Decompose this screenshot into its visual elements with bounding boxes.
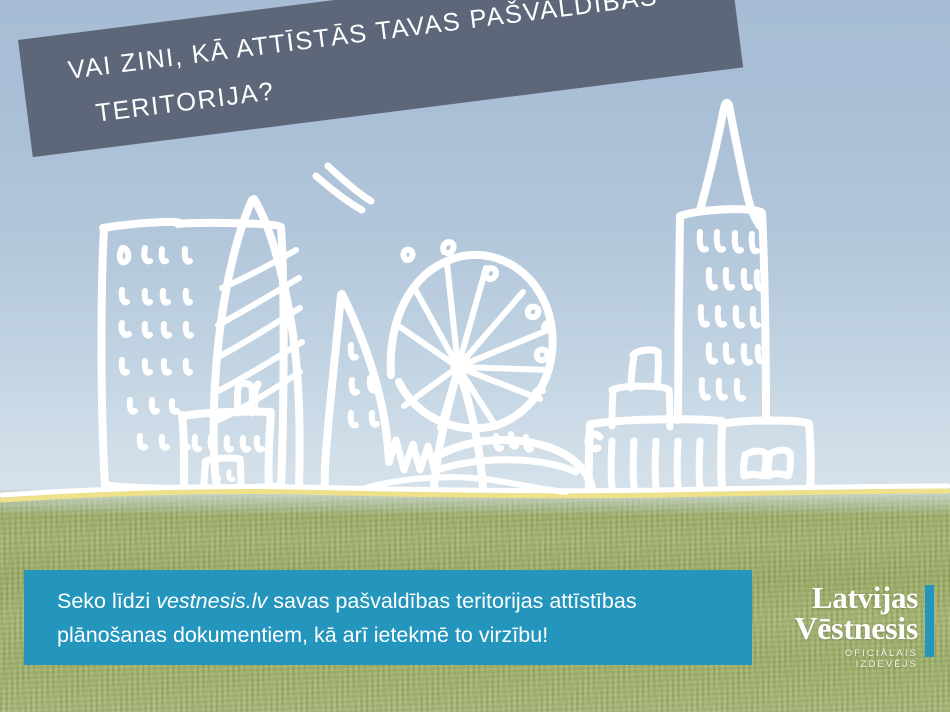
pointed-skyscraper-sketch: [325, 294, 435, 489]
cta-text-before-link: Seko līdzi: [57, 589, 156, 613]
logo-line-1: Latvijas: [788, 583, 918, 613]
logo-accent-bar: [925, 585, 934, 657]
logo-line-2: Vēstnesis: [788, 613, 918, 643]
spire-tower-sketch: [678, 103, 766, 420]
cta-line-2: plānošanas dokumentiem, kā arī ietekmē t…: [57, 618, 752, 652]
cta-text-after-link: savas pašvaldības teritorijas attīstības: [267, 589, 636, 613]
book-building-sketch: [721, 420, 810, 489]
pencil-sketch: [316, 166, 371, 210]
cta-banner: Seko līdzi vestnesis.lv savas pašvaldība…: [24, 570, 752, 665]
logo-text-block: Latvijas Vēstnesis OFICIĀLAIS IZDEVĒJS: [788, 583, 918, 670]
cta-website-link[interactable]: vestnesis.lv: [156, 589, 267, 613]
poster-root: VAI ZINI, KĀ ATTĪSTĀS TAVAS PAŠVALDĪBAS …: [0, 0, 950, 712]
horizon-ground-line: [2, 477, 948, 500]
logo-tagline: OFICIĀLAIS IZDEVĒJS: [788, 648, 918, 670]
cta-line-1: Seko līdzi vestnesis.lv savas pašvaldība…: [57, 584, 752, 618]
mid-building-sketch: [182, 383, 271, 488]
colonnade-building-sketch: [588, 419, 722, 488]
latvijas-vestnesis-logo[interactable]: Latvijas Vēstnesis OFICIĀLAIS IZDEVĒJS: [788, 583, 950, 661]
